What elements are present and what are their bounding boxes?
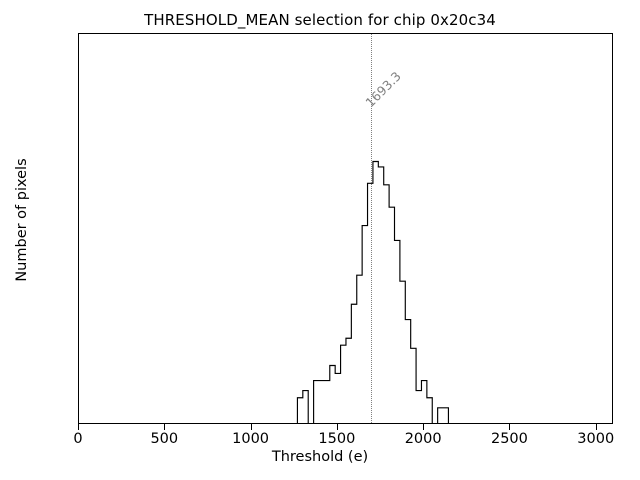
y-axis-minor-tick (78, 152, 79, 153)
y-axis-minor-tick (78, 226, 79, 227)
y-axis-minor-tick (78, 112, 79, 113)
y-axis-minor-tick (78, 316, 79, 317)
y-axis-minor-tick (78, 214, 79, 215)
y-axis-tick-labels: 100101102103104105106 (0, 33, 70, 424)
x-axis-tick-label: 0 (73, 431, 82, 447)
y-axis-minor-tick (78, 179, 79, 180)
y-axis-minor-tick (78, 99, 79, 100)
y-axis-minor-tick (78, 276, 79, 277)
y-axis-minor-tick (78, 323, 79, 324)
y-axis-minor-tick (78, 199, 79, 200)
y-axis-minor-tick (78, 157, 79, 158)
y-axis-minor-tick (78, 351, 79, 352)
y-axis-minor-tick (78, 48, 79, 49)
y-axis-minor-tick (78, 205, 79, 206)
y-axis-minor-tick (78, 85, 79, 86)
y-axis-minor-tick (78, 328, 79, 329)
y-axis-minor-tick (78, 370, 79, 371)
matplotlib-figure: THRESHOLD_MEAN selection for chip 0x20c3… (0, 0, 640, 480)
x-axis-tick-outer (251, 424, 252, 430)
y-axis-tick (78, 139, 79, 140)
y-axis-minor-tick (78, 95, 79, 96)
plot-area (78, 33, 613, 424)
x-axis-tick-outer (509, 424, 510, 430)
y-axis-minor-tick (78, 88, 79, 89)
y-axis-minor-tick (78, 256, 79, 257)
y-axis-minor-tick (78, 313, 79, 314)
y-axis-tick (78, 254, 79, 255)
x-axis-tick-outer (596, 424, 597, 430)
y-axis-tick (78, 197, 79, 198)
x-axis-tick-label: 2500 (491, 431, 528, 447)
y-axis-minor-tick (78, 65, 79, 66)
y-axis-minor-tick (78, 341, 79, 342)
chart-title: THRESHOLD_MEAN selection for chip 0x20c3… (0, 11, 640, 29)
y-axis-minor-tick (78, 236, 79, 237)
y-axis-minor-tick (78, 209, 79, 210)
y-axis-minor-tick (78, 284, 79, 285)
x-axis-tick-label: 3000 (577, 431, 614, 447)
y-axis-minor-tick (78, 202, 79, 203)
x-axis-tick-outer (337, 424, 338, 430)
x-axis-tick-outer (164, 424, 165, 430)
y-axis-minor-tick (78, 381, 79, 382)
y-axis-minor-tick (78, 105, 79, 106)
y-axis-tick (78, 311, 79, 312)
y-axis-minor-tick (78, 320, 79, 321)
y-axis-minor-tick (78, 34, 79, 35)
y-axis-minor-tick (78, 55, 79, 56)
y-axis-minor-tick (78, 294, 79, 295)
x-axis-tick-label: 1500 (318, 431, 355, 447)
x-axis-label: Threshold (e) (0, 449, 640, 465)
y-axis-minor-tick (78, 391, 79, 392)
y-axis-minor-tick (78, 333, 79, 334)
y-axis-minor-tick (78, 259, 79, 260)
y-axis-minor-tick (78, 271, 79, 272)
y-axis-minor-tick (78, 377, 79, 378)
y-axis-minor-tick (78, 122, 79, 123)
y-axis-minor-tick (78, 38, 79, 39)
y-axis-minor-tick (78, 373, 79, 374)
x-axis-tick-outer (423, 424, 424, 430)
y-axis-minor-tick (78, 42, 79, 43)
y-axis-minor-tick (78, 266, 79, 267)
y-axis-minor-tick (78, 385, 79, 386)
y-axis-tick (78, 368, 79, 369)
y-axis-minor-tick (78, 219, 79, 220)
histogram-step-line (79, 34, 613, 424)
y-axis-minor-tick (78, 262, 79, 263)
y-axis-minor-tick (78, 398, 79, 399)
y-axis-minor-tick (78, 91, 79, 92)
y-axis-minor-tick (78, 162, 79, 163)
y-axis-minor-tick (78, 408, 79, 409)
y-axis-minor-tick (78, 169, 79, 170)
y-axis-minor-tick (78, 142, 79, 143)
y-axis-label: Number of pixels (14, 120, 30, 320)
x-axis-tick-label: 500 (150, 431, 178, 447)
x-axis-tick-outer (78, 424, 79, 430)
y-axis-minor-tick (78, 145, 79, 146)
y-axis-tick (78, 82, 79, 83)
x-axis-tick-label: 2000 (405, 431, 442, 447)
x-axis-tick-label: 1000 (232, 431, 269, 447)
y-axis-minor-tick (78, 148, 79, 149)
